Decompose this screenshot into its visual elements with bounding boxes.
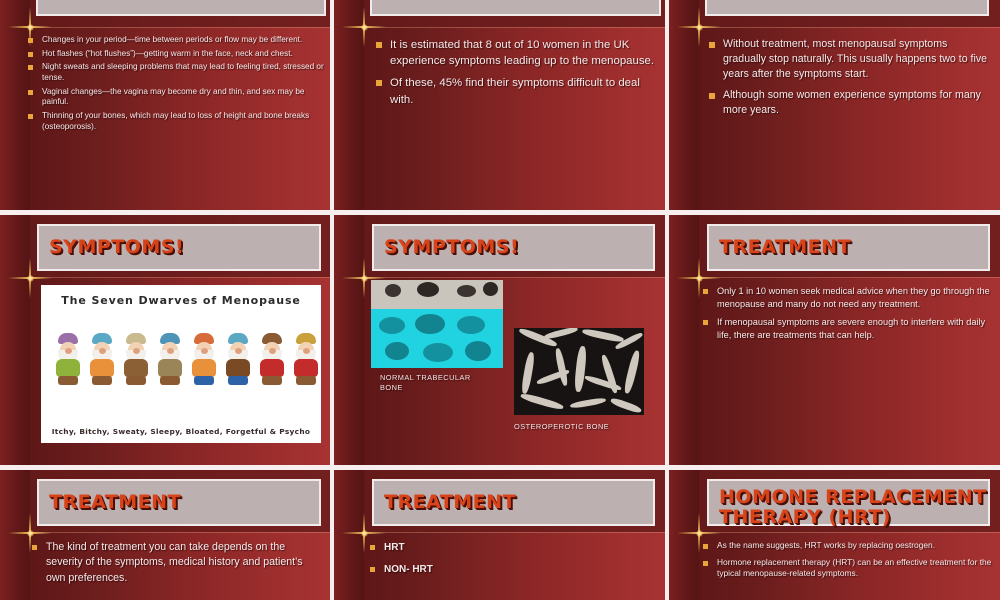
slide-thumbnail-symptoms-3[interactable]: SYMPTOMS! Without treatment, most menopa… (669, 0, 1000, 210)
slide-title: HOMONE REPLACEMENT THERAPY (HRT) (709, 481, 988, 527)
bullet-item: Hot flashes (“hot flushes”)—getting warm… (28, 49, 324, 60)
slide-thumbnail-grid: SYMPTOMS! Changes in your period—time be… (0, 0, 1000, 600)
dwarf-figure (257, 333, 287, 385)
slide-header-rule (334, 27, 665, 28)
bullet-item: Changes in your period—time between peri… (28, 35, 324, 46)
bullet-item: Although some women experience symptoms … (709, 88, 987, 118)
slide-title-plate: SYMPTOMS! (372, 224, 655, 271)
slide-header-rule (669, 277, 1000, 278)
bullet-item: NON- HRT (370, 562, 650, 577)
slide-bullet-list: Without treatment, most menopausal sympt… (709, 37, 987, 124)
dwarf-figure (189, 333, 219, 385)
slide-bullet-list: Changes in your period—time between peri… (28, 35, 324, 135)
cyan-overlay (371, 309, 503, 368)
slide-title-plate: SYMPTOMS! (37, 224, 321, 271)
slide-left-band (334, 215, 364, 465)
bullet-item: Only 1 in 10 women seek medical advice w… (703, 285, 991, 311)
slide-thumbnail-treatment-2[interactable]: TREATMENT The kind of treatment you can … (0, 470, 330, 600)
slide-header-rule (334, 532, 665, 533)
slide-header-rule (669, 27, 1000, 28)
bullet-item: Vaginal changes—the vagina may become dr… (28, 87, 324, 108)
seven-dwarves-of-menopause-picture: The Seven Dwarves of Menopause (41, 285, 321, 443)
slide-title-plate: SYMPTOMS! (36, 0, 326, 16)
dwarf-figure (291, 333, 321, 385)
slide-title: TREATMENT (39, 481, 319, 512)
dwarf-figure (155, 333, 185, 385)
dwarf-figure (223, 333, 253, 385)
dwarf-illustration-row (51, 325, 311, 385)
slide-left-band (0, 470, 30, 600)
bullet-item: If menopausal symptoms are severe enough… (703, 316, 991, 342)
bullet-item: Without treatment, most menopausal sympt… (709, 37, 987, 82)
slide-header-rule (0, 532, 330, 533)
slide-left-band (334, 470, 364, 600)
slide-thumbnail-treatment-1[interactable]: TREATMENT Only 1 in 10 women seek medica… (669, 215, 1000, 465)
slide-title-plate: SYMPTOMS! (705, 0, 989, 16)
slide-header-rule (334, 277, 665, 278)
dwarf-figure (87, 333, 117, 385)
slide-thumbnail-symptoms-dwarves[interactable]: SYMPTOMS! The Seven Dwarves of Menopause (0, 215, 330, 465)
picture-caption: Itchy, Bitchy, Sweaty, Sleepy, Bloated, … (41, 427, 321, 436)
slide-header-rule (0, 27, 330, 28)
dwarf-figure (53, 333, 83, 385)
bullet-item: HRT (370, 540, 650, 555)
slide-thumbnail-symptoms-1[interactable]: SYMPTOMS! Changes in your period—time be… (0, 0, 330, 210)
normal-trabecular-bone-caption: NORMAL TRABECULAR BONE (380, 373, 490, 393)
slide-title-plate: HOMONE REPLACEMENT THERAPY (HRT) (707, 479, 990, 526)
slide-thumbnail-symptoms-2[interactable]: SYMPTOMS! It is estimated that 8 out of … (334, 0, 665, 210)
slide-thumbnail-treatment-3[interactable]: TREATMENT HRT NON- HRT (334, 470, 665, 600)
slide-header-rule (669, 532, 1000, 533)
slide-bullet-list: The kind of treatment you can take depen… (32, 540, 324, 591)
bullet-item: Thinning of your bones, which may lead t… (28, 111, 324, 132)
slide-title-plate: TREATMENT (707, 224, 990, 271)
osteoporotic-bone-caption: OSTEROPEROTIC BONE (514, 422, 654, 432)
picture-heading: The Seven Dwarves of Menopause (41, 294, 321, 307)
dwarf-figure (121, 333, 151, 385)
bullet-item: As the name suggests, HRT works by repla… (703, 540, 993, 552)
slide-title: TREATMENT (709, 226, 988, 257)
slide-left-band (0, 0, 30, 210)
bullet-item: Hormone replacement therapy (HRT) can be… (703, 557, 993, 580)
bullet-item: It is estimated that 8 out of 10 women i… (376, 37, 656, 69)
slide-title-plate: SYMPTOMS! (370, 0, 661, 16)
slide-thumbnail-hrt[interactable]: HOMONE REPLACEMENT THERAPY (HRT) As the … (669, 470, 1000, 600)
slide-title-plate: TREATMENT (372, 479, 655, 526)
slide-title: TREATMENT (374, 481, 653, 512)
bullet-item: Night sweats and sleeping problems that … (28, 62, 324, 83)
slide-title: SYMPTOMS! (39, 226, 319, 257)
slide-header-rule (0, 277, 330, 278)
slide-title-plate: TREATMENT (37, 479, 321, 526)
normal-trabecular-bone-photo (371, 280, 503, 368)
bullet-item: The kind of treatment you can take depen… (32, 540, 324, 586)
slide-left-band (669, 470, 699, 600)
slide-bullet-list: HRT NON- HRT (370, 540, 650, 584)
slide-left-band (0, 215, 30, 465)
slide-bullet-list: As the name suggests, HRT works by repla… (703, 540, 993, 585)
slide-bullet-list: It is estimated that 8 out of 10 women i… (376, 37, 656, 114)
slide-title: SYMPTOMS! (374, 226, 653, 257)
slide-bullet-list: Only 1 in 10 women seek medical advice w… (703, 285, 991, 347)
osteoporotic-bone-photo (514, 328, 644, 415)
bullet-item: Of these, 45% find their symptoms diffic… (376, 75, 656, 107)
slide-left-band (334, 0, 364, 210)
slide-left-band (669, 0, 699, 210)
slide-left-band (669, 215, 699, 465)
slide-thumbnail-symptoms-bone[interactable]: SYMPTOMS! NORMAL TRABECULAR BONE (334, 215, 665, 465)
